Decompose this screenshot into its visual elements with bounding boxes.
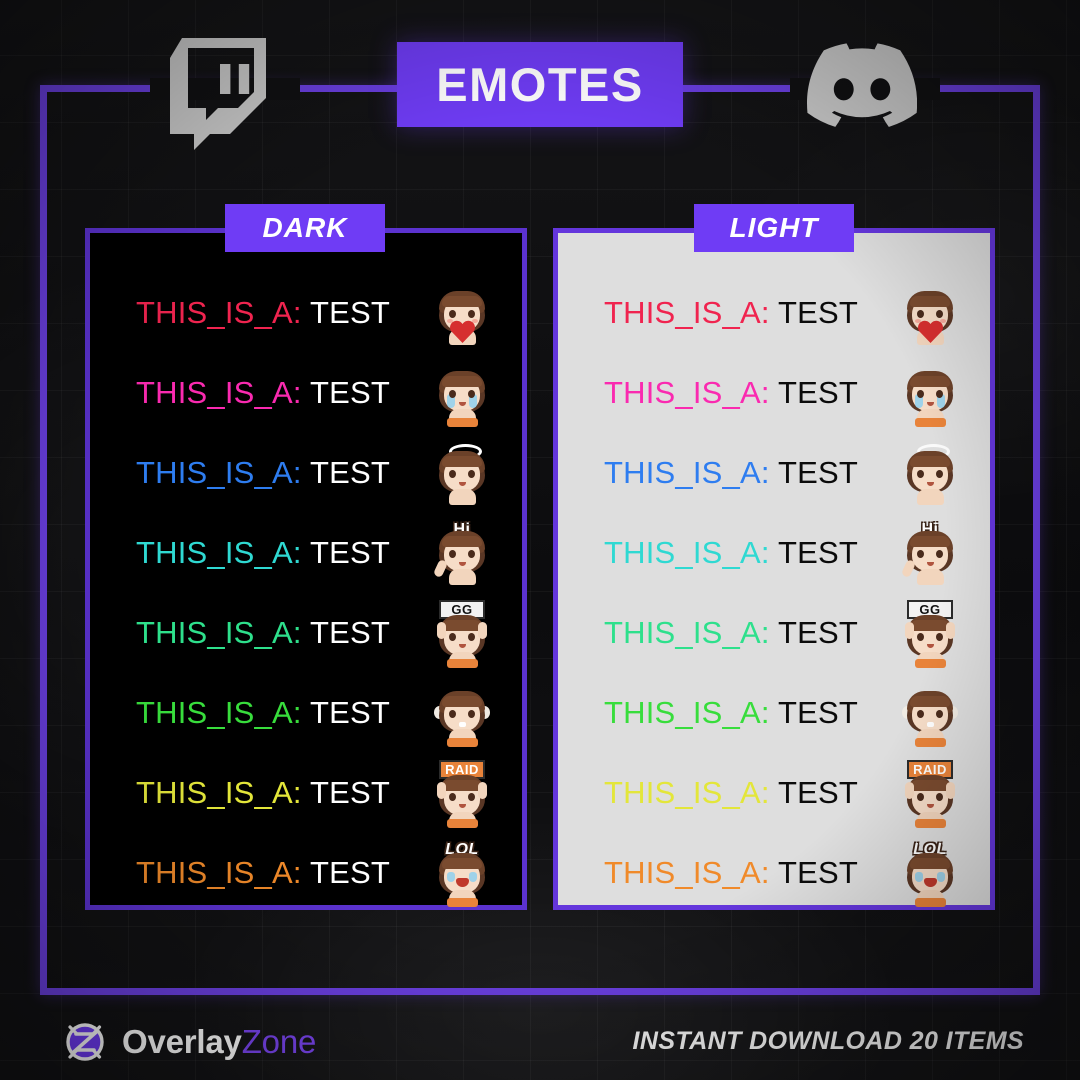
chat-username: THIS_IS_A: — [604, 695, 770, 730]
chat-text: TEST — [310, 295, 390, 330]
table-row: THIS_IS_A: TEST RAID — [558, 753, 990, 833]
chat-text: TEST — [310, 615, 390, 650]
chat-username: THIS_IS_A: — [604, 455, 770, 490]
rage-emote — [430, 678, 494, 748]
table-row: THIS_IS_A: TEST GG — [90, 593, 522, 673]
light-chat-rows: THIS_IS_A: TEST THIS_IS_A: TEST — [558, 273, 990, 913]
chat-username: THIS_IS_A: — [604, 615, 770, 650]
chat-username: THIS_IS_A: — [136, 295, 302, 330]
dark-preview-panel: THIS_IS_A: TEST THIS_IS_A: TEST — [85, 228, 527, 910]
chat-message: THIS_IS_A: TEST — [136, 455, 390, 491]
chat-text: TEST — [310, 455, 390, 490]
dark-panel-tag: DARK — [225, 204, 385, 252]
cry-emote — [898, 358, 962, 428]
chat-username: THIS_IS_A: — [136, 615, 302, 650]
lol-emote: LOL — [430, 838, 494, 908]
chat-message: THIS_IS_A: TEST — [136, 855, 390, 891]
table-row: THIS_IS_A: TEST — [558, 433, 990, 513]
lol-emote: LOL — [898, 838, 962, 908]
chat-text: TEST — [310, 375, 390, 410]
chat-username: THIS_IS_A: — [604, 775, 770, 810]
chat-username: THIS_IS_A: — [136, 775, 302, 810]
chat-message: THIS_IS_A: TEST — [604, 695, 858, 731]
table-row: THIS_IS_A: TEST — [558, 353, 990, 433]
overlayzone-logo-icon — [62, 1019, 108, 1065]
rage-emote — [898, 678, 962, 748]
dark-chat-rows: THIS_IS_A: TEST THIS_IS_A: TEST — [90, 273, 522, 913]
brand-second-word: Zone — [242, 1023, 316, 1060]
gg-emote: GG — [898, 598, 962, 668]
gg-emote: GG — [430, 598, 494, 668]
chat-text: TEST — [310, 855, 390, 890]
chat-username: THIS_IS_A: — [136, 535, 302, 570]
angel-emote — [898, 438, 962, 508]
chat-text: TEST — [310, 695, 390, 730]
chat-text: TEST — [778, 695, 858, 730]
hi-emote: Hi — [898, 518, 962, 588]
title-banner: EMOTES — [397, 42, 683, 127]
dark-panel-surface: THIS_IS_A: TEST THIS_IS_A: TEST — [85, 228, 527, 910]
table-row: THIS_IS_A: TEST LOL — [558, 833, 990, 913]
chat-text: TEST — [778, 615, 858, 650]
chat-message: THIS_IS_A: TEST — [136, 615, 390, 651]
table-row: THIS_IS_A: TEST RAID — [90, 753, 522, 833]
heart-emote — [898, 278, 962, 348]
light-tag-label: LIGHT — [730, 212, 819, 244]
table-row: THIS_IS_A: TEST — [558, 273, 990, 353]
dark-tag-label: DARK — [263, 212, 348, 244]
table-row: THIS_IS_A: TEST Hi — [90, 513, 522, 593]
table-row: THIS_IS_A: TEST — [90, 433, 522, 513]
chat-text: TEST — [778, 855, 858, 890]
chat-text: TEST — [778, 775, 858, 810]
light-preview-panel: THIS_IS_A: TEST THIS_IS_A: TEST — [553, 228, 995, 910]
table-row: THIS_IS_A: TEST GG — [558, 593, 990, 673]
footer-note: INSTANT DOWNLOAD 20 ITEMS — [633, 1027, 1024, 1056]
table-row: THIS_IS_A: TEST — [90, 353, 522, 433]
chat-username: THIS_IS_A: — [604, 855, 770, 890]
chat-text: TEST — [778, 535, 858, 570]
chat-text: TEST — [310, 535, 390, 570]
light-panel-tag: LIGHT — [694, 204, 854, 252]
chat-username: THIS_IS_A: — [604, 375, 770, 410]
light-panel-surface: THIS_IS_A: TEST THIS_IS_A: TEST — [553, 228, 995, 910]
brand-name: OverlayZone — [122, 1023, 316, 1061]
twitch-icon — [170, 38, 266, 155]
brand-first-word: Overlay — [122, 1023, 242, 1060]
chat-text: TEST — [778, 295, 858, 330]
chat-message: THIS_IS_A: TEST — [604, 615, 858, 651]
table-row: THIS_IS_A: TEST — [90, 273, 522, 353]
chat-username: THIS_IS_A: — [136, 375, 302, 410]
chat-message: THIS_IS_A: TEST — [604, 775, 858, 811]
chat-username: THIS_IS_A: — [136, 455, 302, 490]
chat-message: THIS_IS_A: TEST — [604, 295, 858, 331]
hi-emote: Hi — [430, 518, 494, 588]
raid-emote: RAID — [430, 758, 494, 828]
footer: OverlayZone INSTANT DOWNLOAD 20 ITEMS — [0, 1005, 1080, 1080]
discord-icon — [807, 40, 917, 135]
brand-logo-group: OverlayZone — [62, 1019, 316, 1065]
cry-emote — [430, 358, 494, 428]
table-row: THIS_IS_A: TEST — [90, 673, 522, 753]
raid-emote: RAID — [898, 758, 962, 828]
chat-username: THIS_IS_A: — [136, 695, 302, 730]
chat-message: THIS_IS_A: TEST — [136, 295, 390, 331]
chat-username: THIS_IS_A: — [604, 535, 770, 570]
chat-text: TEST — [310, 775, 390, 810]
chat-message: THIS_IS_A: TEST — [604, 455, 858, 491]
chat-message: THIS_IS_A: TEST — [136, 695, 390, 731]
chat-text: TEST — [778, 375, 858, 410]
table-row: THIS_IS_A: TEST LOL — [90, 833, 522, 913]
heart-emote — [430, 278, 494, 348]
chat-message: THIS_IS_A: TEST — [136, 375, 390, 411]
table-row: THIS_IS_A: TEST — [558, 673, 990, 753]
chat-message: THIS_IS_A: TEST — [604, 855, 858, 891]
chat-username: THIS_IS_A: — [136, 855, 302, 890]
table-row: THIS_IS_A: TEST Hi — [558, 513, 990, 593]
chat-username: THIS_IS_A: — [604, 295, 770, 330]
chat-message: THIS_IS_A: TEST — [136, 535, 390, 571]
chat-text: TEST — [778, 455, 858, 490]
page-title: EMOTES — [436, 57, 643, 112]
chat-message: THIS_IS_A: TEST — [136, 775, 390, 811]
chat-message: THIS_IS_A: TEST — [604, 375, 858, 411]
angel-emote — [430, 438, 494, 508]
chat-message: THIS_IS_A: TEST — [604, 535, 858, 571]
poster-canvas: EMOTES THIS_IS_A: TEST THIS_IS_A: TE — [0, 0, 1080, 1080]
